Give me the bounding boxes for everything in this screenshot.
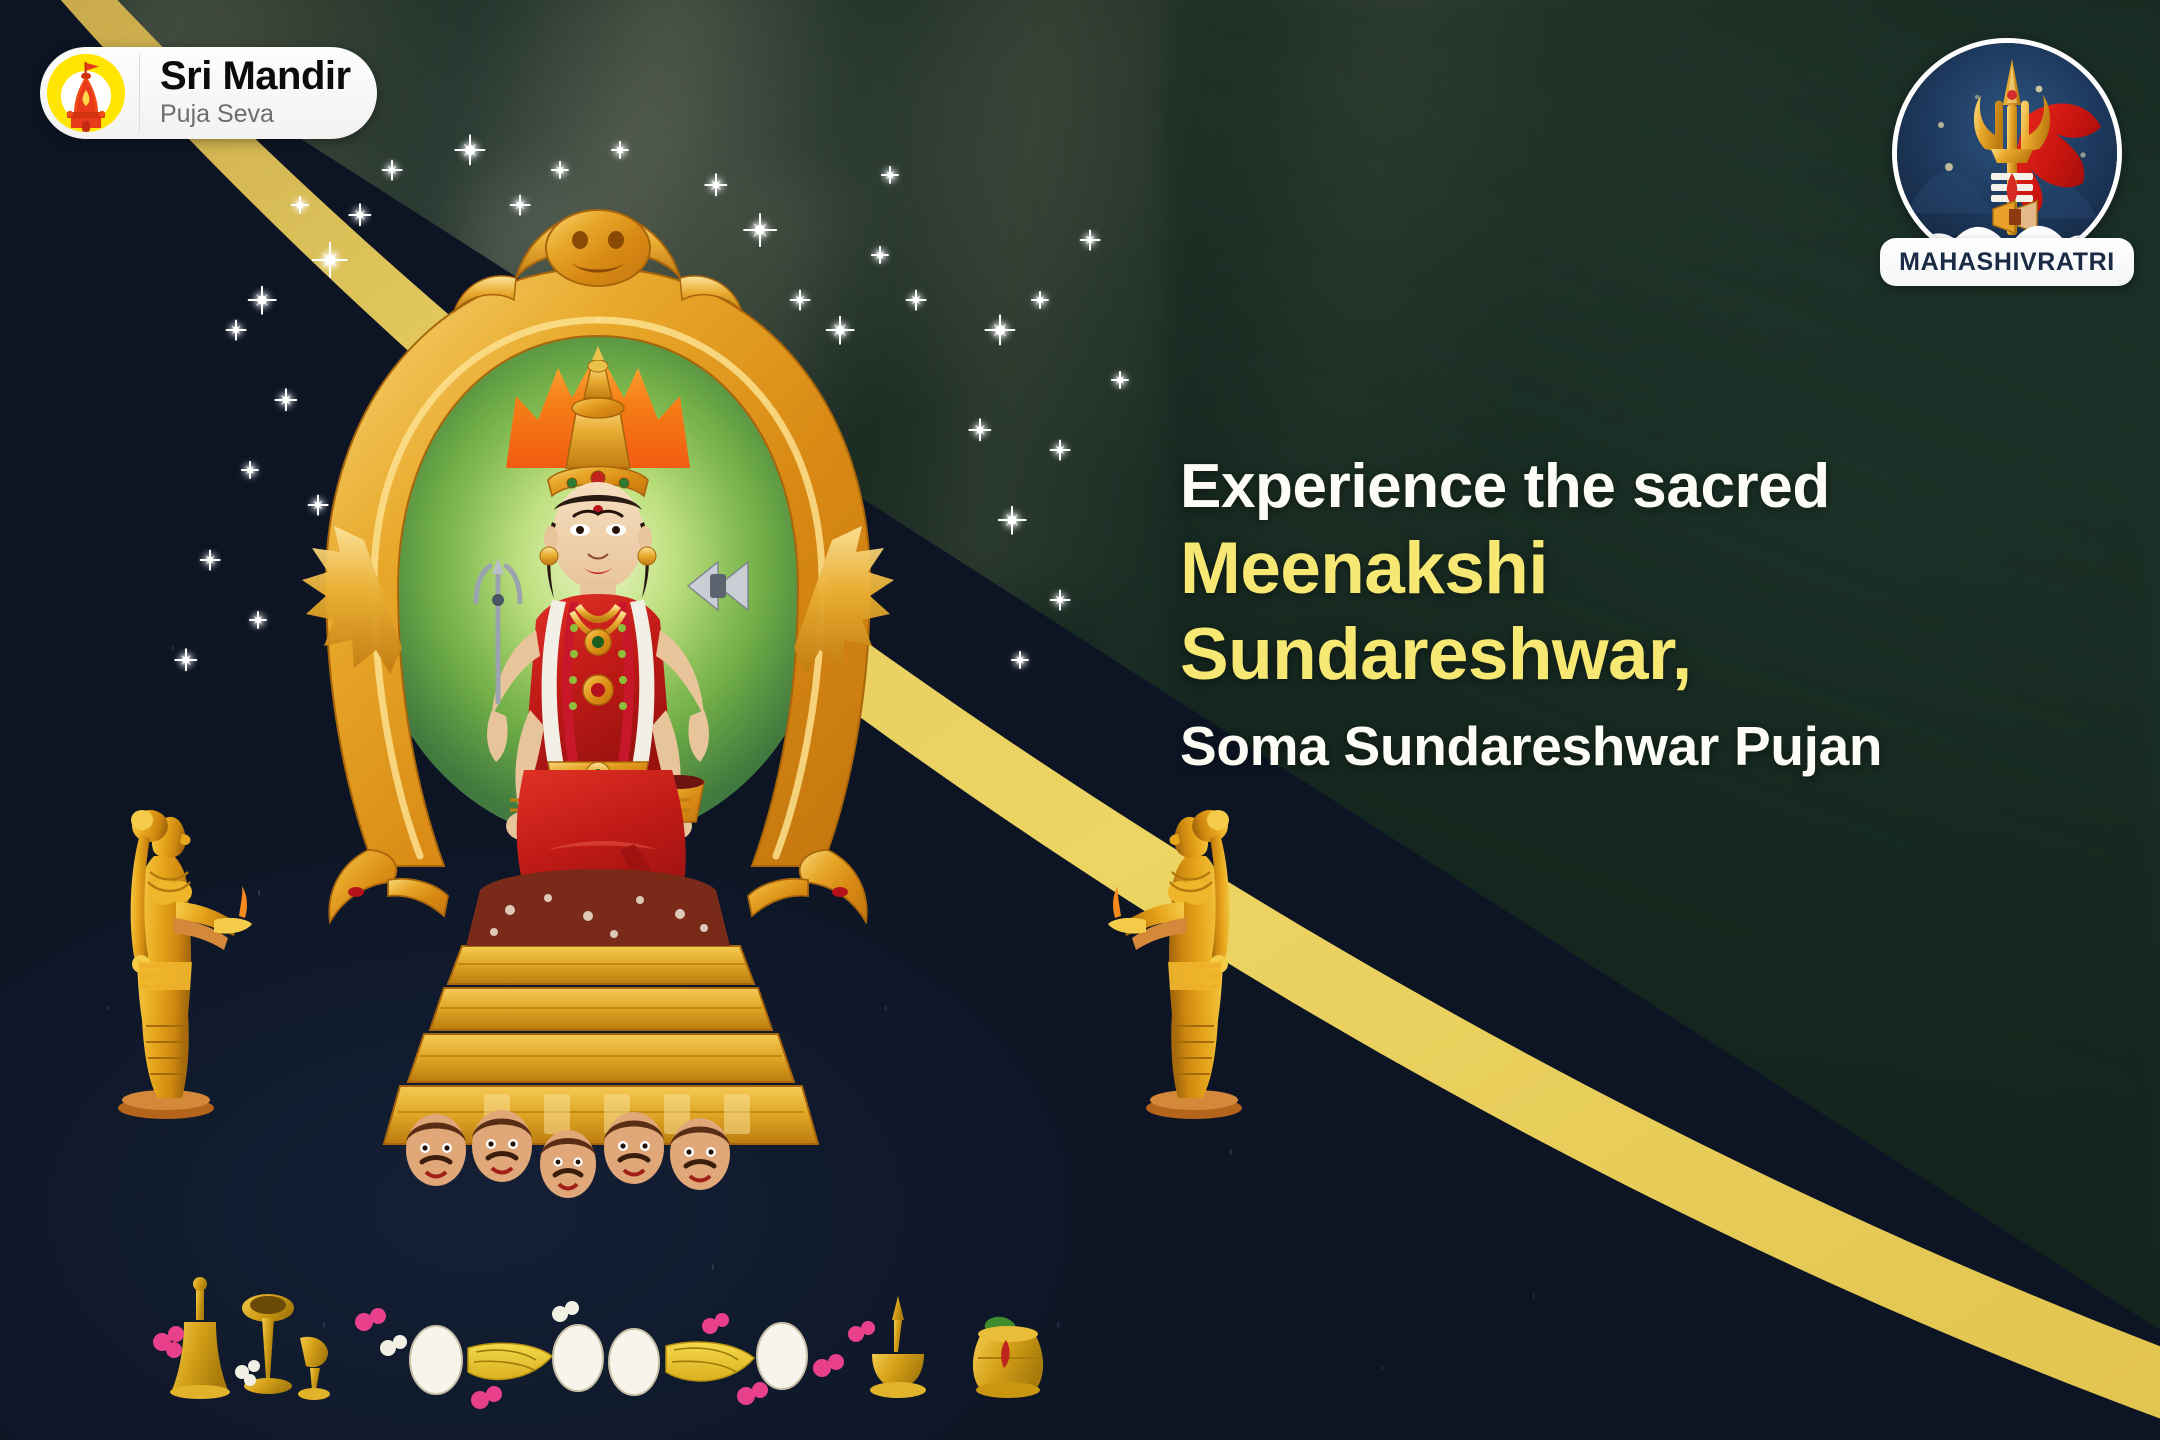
banana-bunch-icon [468,1343,552,1379]
trishul-icon [1892,38,2122,268]
kalash-icon [973,1317,1043,1398]
headline-line-3: Sundareshwar, [1180,615,2110,695]
mahashivratri-badge[interactable]: MAHASHIVRATRI [1880,38,2134,286]
puja-offerings [150,1200,1190,1440]
headline-line-2: Meenakshi [1180,529,2110,609]
brand-name: Sri Mandir [160,56,351,97]
headline-block: Experience the sacred Meenakshi Sundares… [1180,452,2110,779]
coconut-half-icon [410,1326,462,1394]
festival-name-pill: MAHASHIVRATRI [1880,238,2134,286]
brand-text-block: Sri Mandir Puja Seva [160,56,351,130]
brass-lamp-icon [870,1296,926,1398]
banana-bunch-icon [666,1342,754,1381]
coconut-half-icon [553,1325,603,1391]
logo-divider [139,53,140,133]
headline-line-1: Experience the sacred [1180,452,2110,523]
festival-name-label: MAHASHIVRATRI [1899,248,2115,276]
headline-line-4: Soma Sundareshwar Pujan [1180,713,2110,779]
brand-tagline: Puja Seva [160,99,351,130]
attendant-statue-left [96,790,256,1120]
coconut-half-icon [609,1329,659,1395]
brass-lamp-small-icon [298,1337,330,1400]
attendant-statue-right [1104,790,1264,1120]
temple-shikhara-icon [47,54,125,132]
coconut-half-icon [757,1323,807,1389]
brand-logo-badge[interactable]: Sri Mandir Puja Seva [40,47,377,139]
promotional-banner: Sri Mandir Puja Seva [0,0,2160,1440]
deity-artwork-meenakshi [248,150,948,1330]
